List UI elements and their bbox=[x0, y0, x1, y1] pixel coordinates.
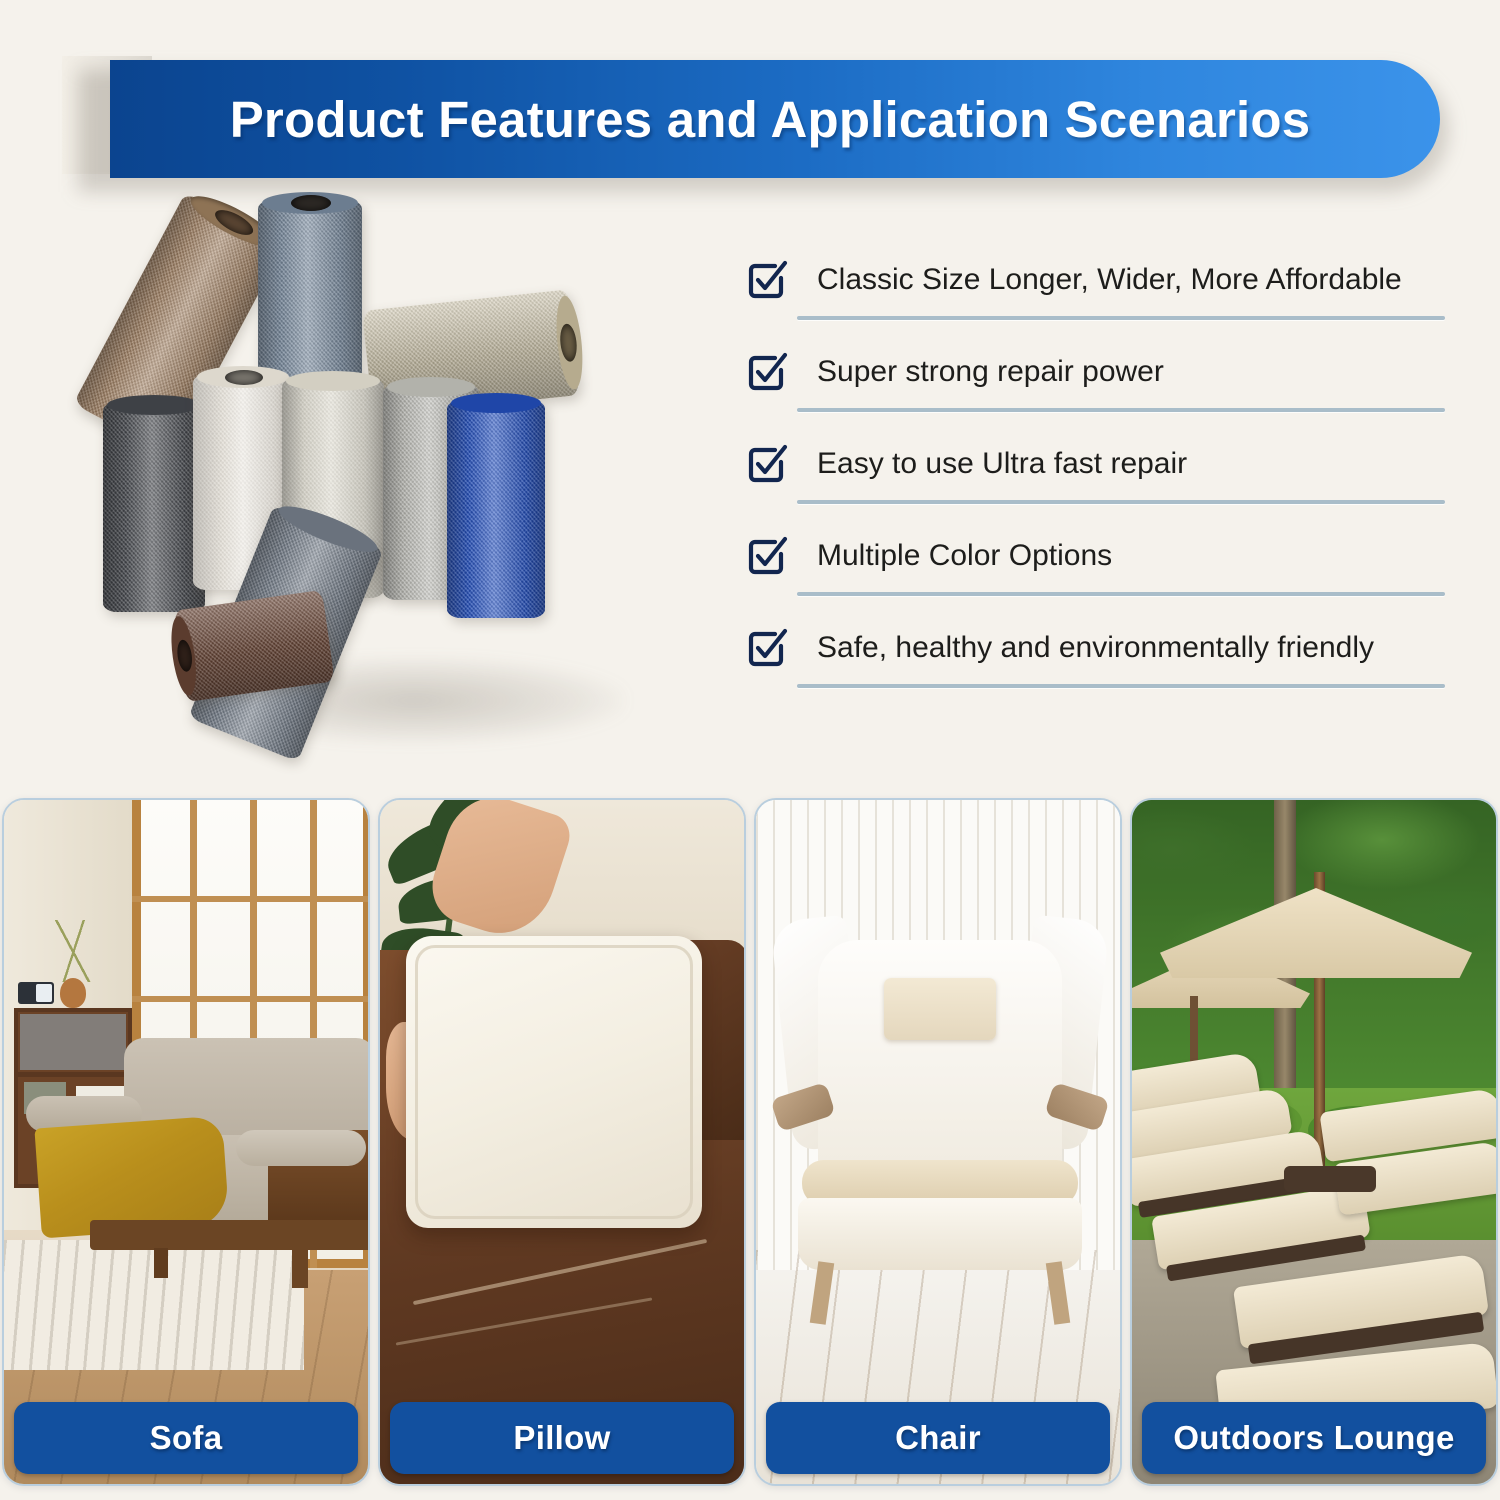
scene-label-text: Outdoors Lounge bbox=[1173, 1419, 1454, 1457]
product-image bbox=[75, 188, 715, 768]
feature-item: Classic Size Longer, Wider, More Afforda… bbox=[745, 258, 1445, 320]
checkbox-checked-icon bbox=[745, 442, 789, 486]
scene-photo-pillow bbox=[380, 800, 744, 1484]
checkbox-checked-icon bbox=[745, 626, 789, 670]
scene-label-outdoors-lounge: Outdoors Lounge bbox=[1142, 1402, 1486, 1474]
header-banner: Product Features and Application Scenari… bbox=[0, 48, 1500, 178]
feature-divider bbox=[797, 592, 1445, 596]
tape-roll-charcoal bbox=[103, 402, 205, 612]
feature-label: Safe, healthy and environmentally friend… bbox=[817, 631, 1374, 666]
page-title: Product Features and Application Scenari… bbox=[230, 90, 1311, 149]
scene-photo-outdoors-lounge bbox=[1132, 800, 1496, 1484]
feature-label: Easy to use Ultra fast repair bbox=[817, 447, 1187, 482]
feature-label: Super strong repair power bbox=[817, 355, 1164, 390]
feature-item: Safe, healthy and environmentally friend… bbox=[745, 626, 1445, 688]
scene-card-sofa[interactable]: Sofa bbox=[2, 798, 370, 1486]
feature-divider bbox=[797, 408, 1445, 412]
feature-divider bbox=[797, 500, 1445, 504]
feature-label: Classic Size Longer, Wider, More Afforda… bbox=[817, 263, 1402, 298]
tape-rolls-group bbox=[75, 188, 715, 768]
feature-item: Easy to use Ultra fast repair bbox=[745, 442, 1445, 504]
scene-label-text: Sofa bbox=[150, 1419, 223, 1457]
scene-label-text: Pillow bbox=[513, 1419, 610, 1457]
checkbox-checked-icon bbox=[745, 534, 789, 578]
feature-item: Super strong repair power bbox=[745, 350, 1445, 412]
banner-body: Product Features and Application Scenari… bbox=[110, 60, 1440, 178]
scene-card-pillow[interactable]: Pillow bbox=[378, 798, 746, 1486]
feature-item: Multiple Color Options bbox=[745, 534, 1445, 596]
feature-label: Multiple Color Options bbox=[817, 539, 1112, 574]
scene-label-sofa: Sofa bbox=[14, 1402, 358, 1474]
scene-photo-chair bbox=[756, 800, 1120, 1484]
scene-card-outdoors-lounge[interactable]: Outdoors Lounge bbox=[1130, 798, 1498, 1486]
application-scenarios: Sofa Pillow bbox=[0, 798, 1500, 1488]
scene-label-text: Chair bbox=[895, 1419, 981, 1457]
scene-photo-sofa bbox=[4, 800, 368, 1484]
feature-list: Classic Size Longer, Wider, More Afforda… bbox=[745, 258, 1445, 718]
feature-divider bbox=[797, 316, 1445, 320]
scene-card-chair[interactable]: Chair bbox=[754, 798, 1122, 1486]
scene-label-chair: Chair bbox=[766, 1402, 1110, 1474]
tape-roll-royal-blue bbox=[447, 400, 545, 618]
checkbox-checked-icon bbox=[745, 258, 789, 302]
feature-divider bbox=[797, 684, 1445, 688]
scene-label-pillow: Pillow bbox=[390, 1402, 734, 1474]
checkbox-checked-icon bbox=[745, 350, 789, 394]
